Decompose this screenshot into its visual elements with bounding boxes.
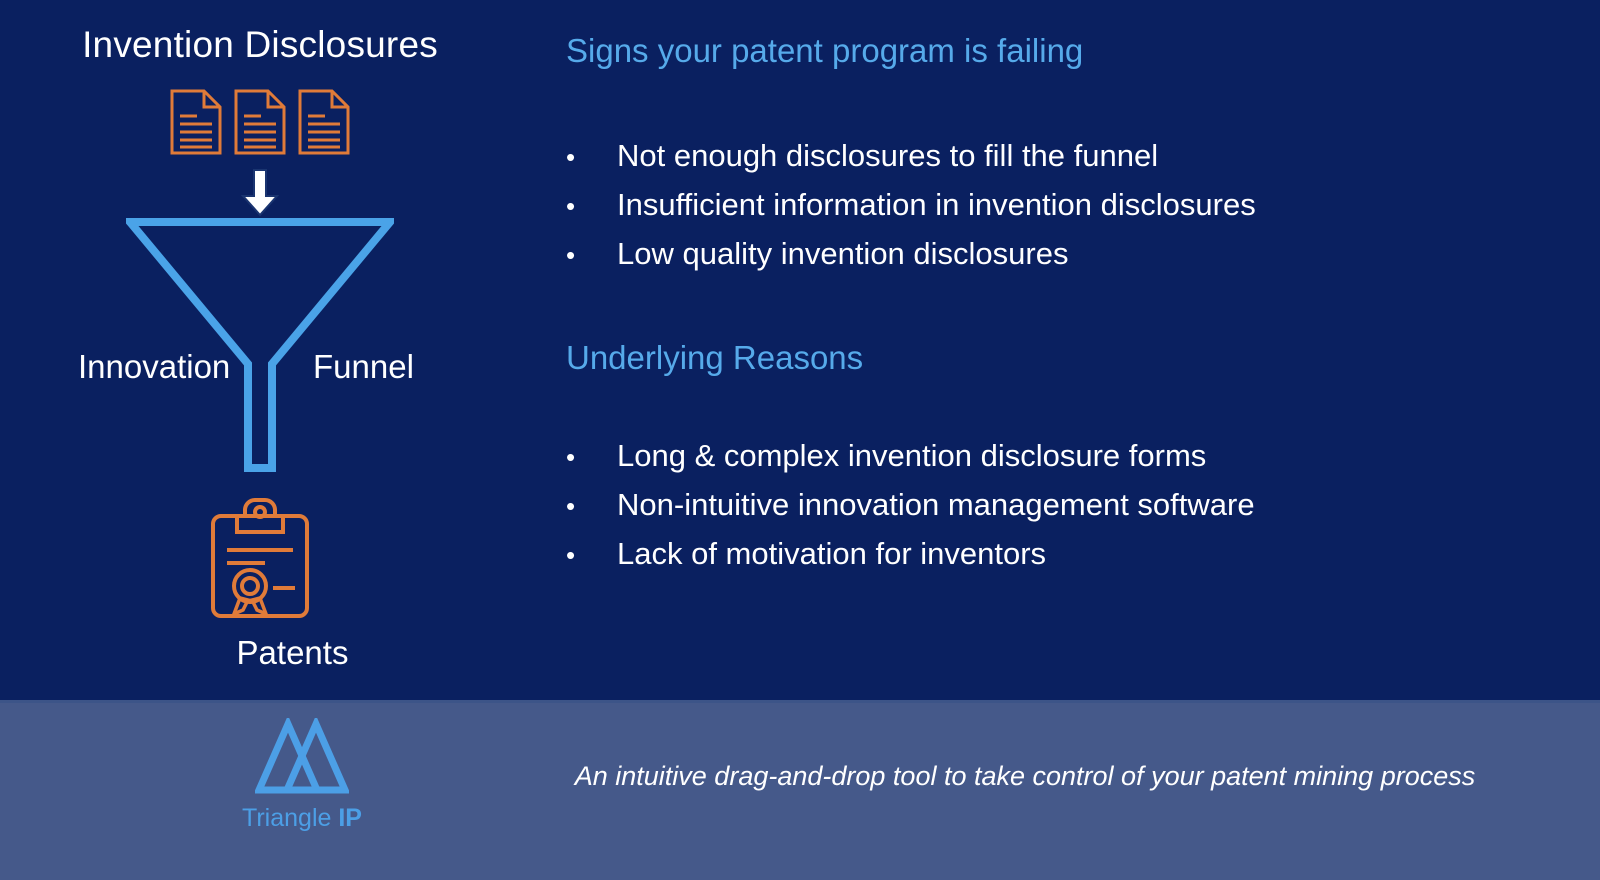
list-item: • Not enough disclosures to fill the fun… <box>566 132 1256 181</box>
document-icon <box>233 88 287 156</box>
bullet-list-signs: • Not enough disclosures to fill the fun… <box>566 132 1256 279</box>
list-item-label: Lack of motivation for inventors <box>617 530 1046 578</box>
slide-canvas: Invention Disclosures <box>0 0 1600 880</box>
section-heading-signs: Signs your patent program is failing <box>566 33 1083 69</box>
list-item: • Non-intuitive innovation management so… <box>566 481 1255 530</box>
funnel-diagram-column: Invention Disclosures <box>0 0 520 700</box>
footer-tagline: An intuitive drag-and-drop tool to take … <box>520 761 1530 792</box>
bullet-dot-icon: • <box>566 531 617 579</box>
brand-name-bold: IP <box>338 804 362 832</box>
list-item: • Insufficient information in invention … <box>566 181 1256 230</box>
brand-name-regular: Triangle <box>242 804 338 832</box>
patent-clipboard-icon <box>0 498 520 620</box>
document-icon <box>297 88 351 156</box>
list-item: • Lack of motivation for inventors <box>566 530 1255 579</box>
section-heading-reasons: Underlying Reasons <box>566 340 863 376</box>
footer-divider <box>0 700 1600 703</box>
list-item-label: Long & complex invention disclosure form… <box>617 432 1206 480</box>
list-item-label: Not enough disclosures to fill the funne… <box>617 132 1158 180</box>
patents-label: Patents <box>0 634 585 672</box>
brand-name: Triangle IP <box>212 804 392 833</box>
bullet-dot-icon: • <box>566 133 617 181</box>
content-column: Signs your patent program is failing • N… <box>566 0 1576 700</box>
funnel-label-innovation: Innovation <box>78 348 230 386</box>
list-item-label: Low quality invention disclosures <box>617 230 1068 278</box>
list-item-label: Non-intuitive innovation management soft… <box>617 481 1255 529</box>
brand-logo: Triangle IP <box>212 718 392 833</box>
bullet-dot-icon: • <box>566 182 617 230</box>
bullet-list-reasons: • Long & complex invention disclosure fo… <box>566 432 1255 579</box>
document-icon <box>169 88 223 156</box>
footer-bar: Triangle IP An intuitive drag-and-drop t… <box>0 700 1600 880</box>
document-icon-group <box>0 88 520 156</box>
bullet-dot-icon: • <box>566 231 617 279</box>
bullet-dot-icon: • <box>566 482 617 530</box>
page-title: Invention Disclosures <box>0 24 520 66</box>
funnel-label-funnel: Funnel <box>313 348 414 386</box>
down-arrow-icon <box>0 168 520 218</box>
list-item: • Long & complex invention disclosure fo… <box>566 432 1255 481</box>
bullet-dot-icon: • <box>566 433 617 481</box>
list-item-label: Insufficient information in invention di… <box>617 181 1256 229</box>
list-item: • Low quality invention disclosures <box>566 230 1256 279</box>
triangle-ip-logo-icon <box>212 718 392 800</box>
